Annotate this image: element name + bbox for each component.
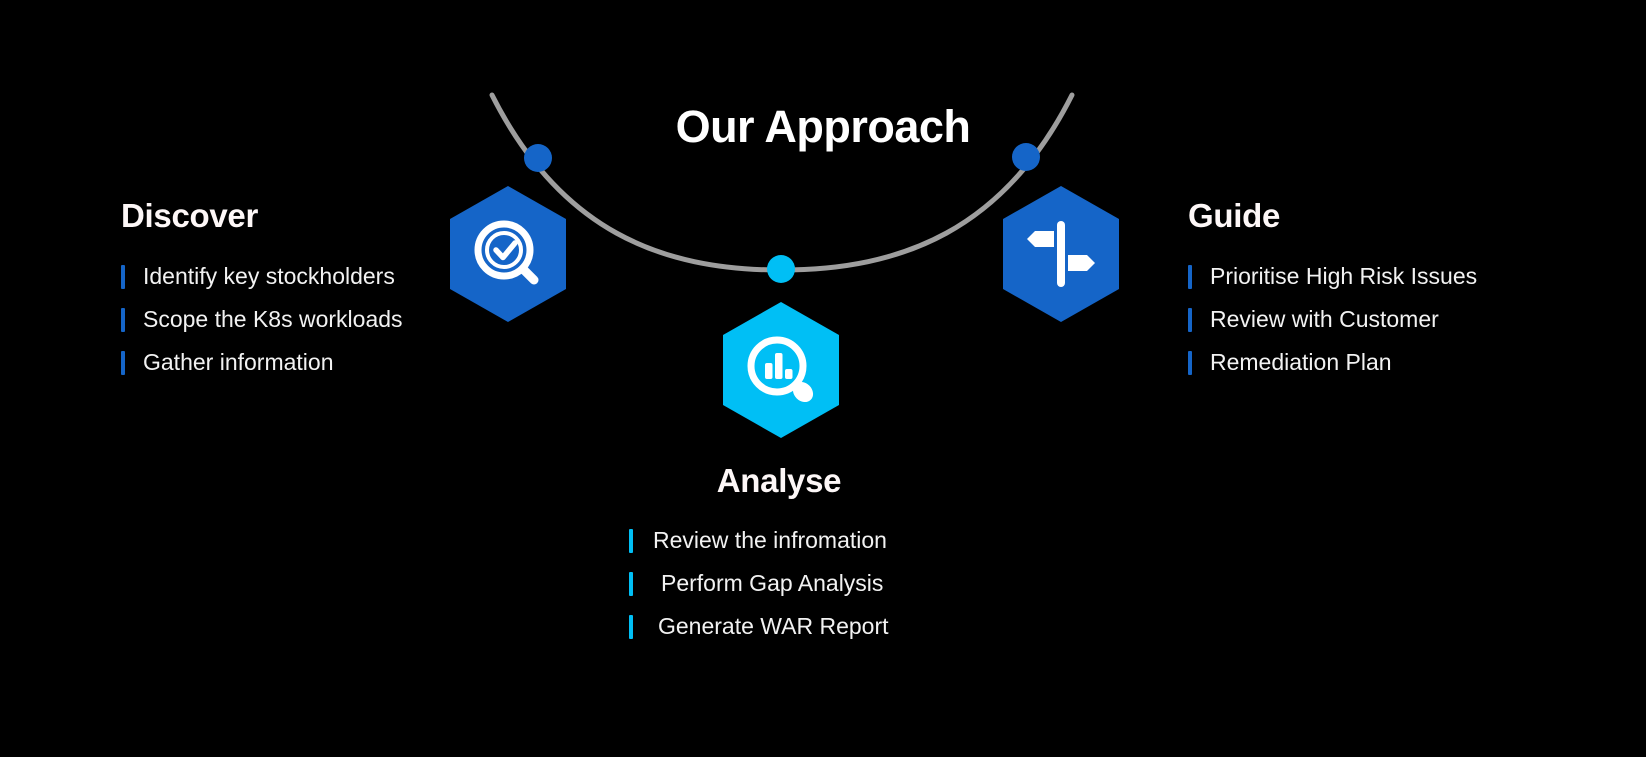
- hexagon-guide[interactable]: [1000, 184, 1122, 324]
- hexagon-analyse[interactable]: [720, 300, 842, 440]
- list-item-label: Prioritise High Risk Issues: [1210, 265, 1477, 288]
- list-item[interactable]: Review with Customer: [1188, 298, 1477, 341]
- bullet-marker: [1188, 351, 1192, 375]
- bullet-marker: [1188, 265, 1192, 289]
- stage-block-guide: Guide Prioritise High Risk Issues Review…: [1188, 198, 1477, 384]
- bullet-marker: [629, 529, 633, 553]
- list-item[interactable]: Identify key stockholders: [121, 255, 403, 298]
- list-item[interactable]: Remediation Plan: [1188, 341, 1477, 384]
- list-item-label: Remediation Plan: [1210, 351, 1392, 374]
- approach-diagram: Our Approach Discover: [0, 0, 1646, 757]
- bullet-marker: [121, 308, 125, 332]
- stage-heading-guide: Guide: [1188, 198, 1477, 234]
- stage-heading-analyse: Analyse: [629, 463, 929, 499]
- list-item-label: Gather information: [143, 351, 333, 374]
- list-item[interactable]: Perform Gap Analysis: [629, 562, 929, 605]
- bullet-marker: [121, 265, 125, 289]
- list-item-label: Review with Customer: [1210, 308, 1439, 331]
- list-item[interactable]: Gather information: [121, 341, 403, 384]
- list-item[interactable]: Scope the K8s workloads: [121, 298, 403, 341]
- list-item-label: Identify key stockholders: [143, 265, 395, 288]
- list-item-label: Review the infromation: [653, 529, 887, 552]
- list-item-label: Scope the K8s workloads: [143, 308, 403, 331]
- bullet-marker: [629, 615, 633, 639]
- hexagon-discover[interactable]: [447, 184, 569, 324]
- stage-block-analyse: Analyse Review the infromation Perform G…: [629, 463, 929, 648]
- page-title: Our Approach: [0, 102, 1646, 152]
- bullet-marker: [1188, 308, 1192, 332]
- stage-list-guide: Prioritise High Risk Issues Review with …: [1188, 255, 1477, 384]
- stage-list-analyse: Review the infromation Perform Gap Analy…: [629, 519, 929, 648]
- stage-list-discover: Identify key stockholders Scope the K8s …: [121, 255, 403, 384]
- list-item[interactable]: Generate WAR Report: [629, 605, 929, 648]
- bullet-marker: [121, 351, 125, 375]
- stage-block-discover: Discover Identify key stockholders Scope…: [121, 198, 403, 384]
- bullet-marker: [629, 572, 633, 596]
- curve-dot-center: [767, 255, 795, 283]
- list-item-label: Generate WAR Report: [658, 615, 889, 638]
- list-item-label: Perform Gap Analysis: [661, 572, 883, 595]
- stage-heading-discover: Discover: [121, 198, 403, 234]
- list-item[interactable]: Review the infromation: [629, 519, 929, 562]
- list-item[interactable]: Prioritise High Risk Issues: [1188, 255, 1477, 298]
